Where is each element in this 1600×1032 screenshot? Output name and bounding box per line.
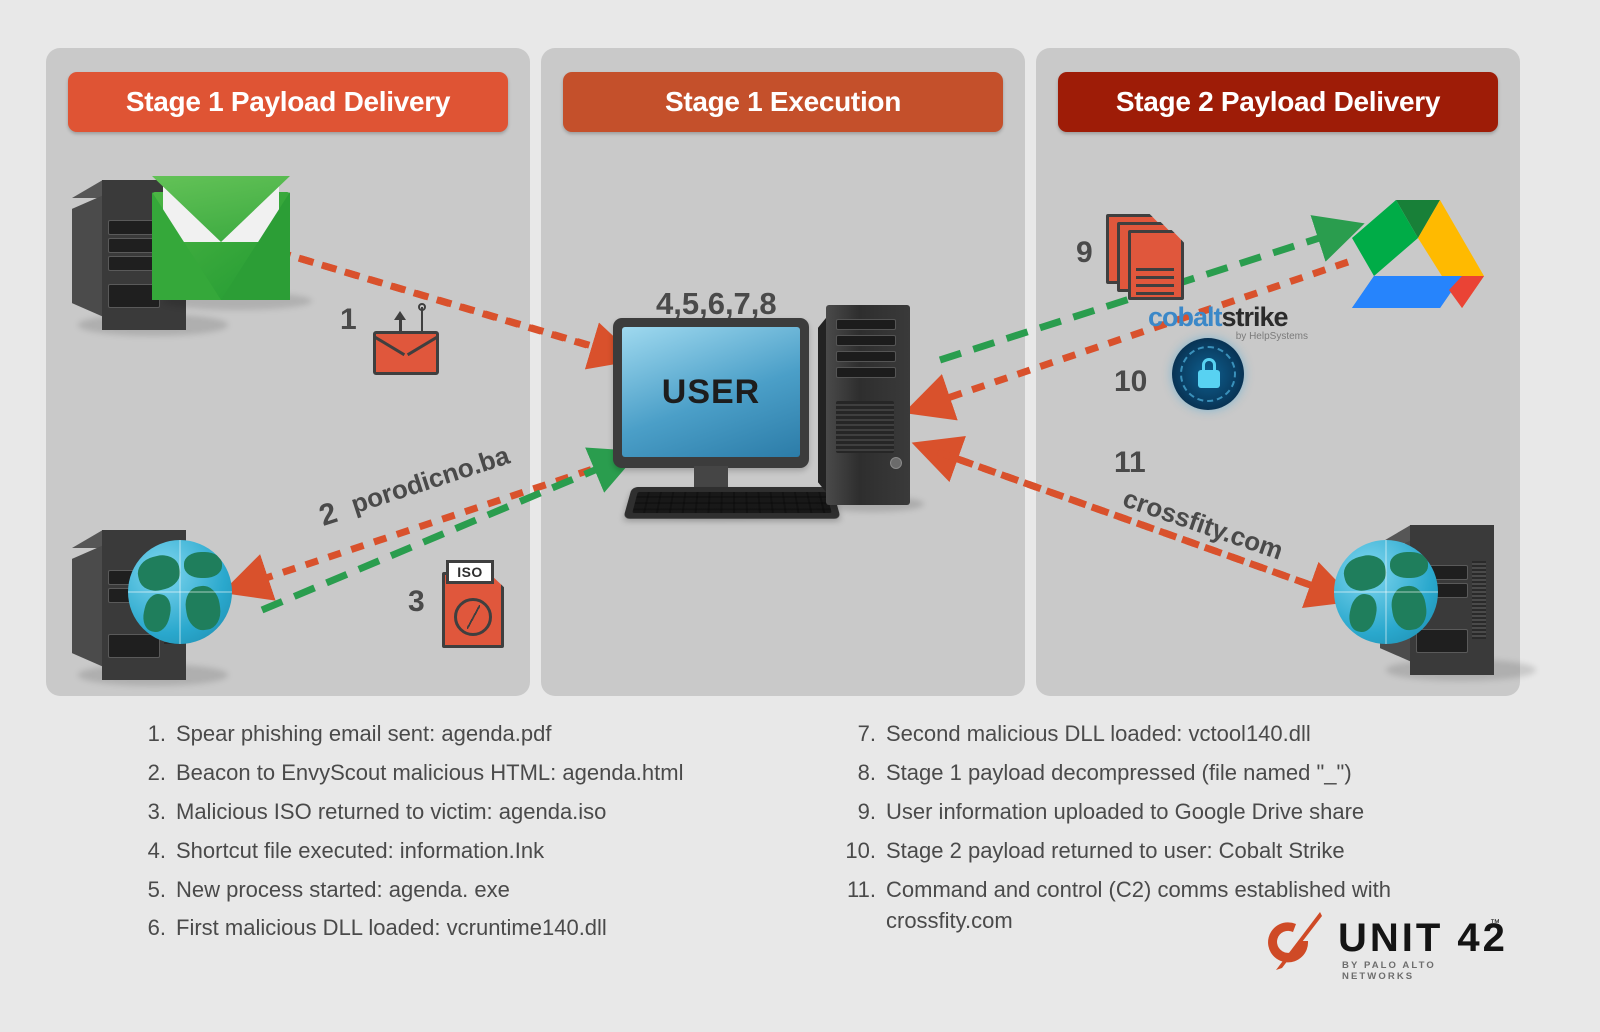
legend-item-number: 8.	[838, 757, 886, 789]
user-monitor-icon: USER	[613, 318, 809, 468]
legend-item-number: 1.	[128, 718, 176, 750]
globe-icon	[1334, 540, 1438, 644]
legend-item-number: 11.	[838, 874, 886, 938]
center-steps-label: 4,5,6,7,8	[656, 286, 777, 322]
legend-item-number: 3.	[128, 796, 176, 828]
google-drive-icon	[1352, 190, 1484, 308]
banner-stage-1-payload-delivery: Stage 1 Payload Delivery	[68, 72, 508, 132]
legend-item-number: 7.	[838, 718, 886, 750]
banner-stage-2-payload-delivery: Stage 2 Payload Delivery	[1058, 72, 1498, 132]
legend-item-number: 5.	[128, 874, 176, 906]
legend-item: 8.Stage 1 payload decompressed (file nam…	[838, 757, 1478, 789]
banner-title: Stage 1 Execution	[665, 86, 901, 118]
legend-item-text: Shortcut file executed: information.Ink	[176, 835, 828, 867]
document-stack-icon	[1106, 214, 1186, 300]
legend-item-number: 4.	[128, 835, 176, 867]
globe-icon	[128, 540, 232, 644]
user-screen-label: USER	[662, 373, 760, 412]
legend-item: 6.First malicious DLL loaded: vcruntime1…	[128, 912, 828, 944]
legend-item-text: Spear phishing email sent: agenda.pdf	[176, 718, 828, 750]
cobalt-strike-logo: cobaltstrike by HelpSystems	[1148, 302, 1308, 342]
unit-42-trademark: ™	[1490, 918, 1500, 929]
step-1-number: 1	[340, 303, 357, 337]
legend-item-text: User information uploaded to Google Driv…	[886, 796, 1478, 828]
unit-42-mark-icon	[1262, 910, 1332, 972]
legend-item: 3.Malicious ISO returned to victim: agen…	[128, 796, 828, 828]
step-11-number: 11	[1114, 446, 1146, 480]
email-envelope-icon	[152, 192, 290, 300]
legend-item-text: First malicious DLL loaded: vcruntime140…	[176, 912, 828, 944]
legend-item-number: 6.	[128, 912, 176, 944]
legend-item: 4.Shortcut file executed: information.In…	[128, 835, 828, 867]
unit-42-logo: UNIT 42 ™ BY PALO ALTO NETWORKS	[1262, 910, 1512, 976]
unit-42-wordmark: UNIT 42	[1338, 916, 1508, 961]
legend-column-left: 1.Spear phishing email sent: agenda.pdf2…	[128, 718, 828, 951]
legend-item-number: 2.	[128, 757, 176, 789]
legend-item: 2.Beacon to EnvyScout malicious HTML: ag…	[128, 757, 828, 789]
step-10-number: 10	[1114, 365, 1147, 399]
legend-item: 9.User information uploaded to Google Dr…	[838, 796, 1478, 828]
legend-item-text: Malicious ISO returned to victim: agenda…	[176, 796, 828, 828]
legend-item-text: Second malicious DLL loaded: vctool140.d…	[886, 718, 1478, 750]
legend-item-text: New process started: agenda. exe	[176, 874, 828, 906]
legend-item: 7.Second malicious DLL loaded: vctool140…	[838, 718, 1478, 750]
step-9-number: 9	[1076, 236, 1093, 270]
banner-stage-1-execution: Stage 1 Execution	[563, 72, 1003, 132]
legend-item: 5.New process started: agenda. exe	[128, 874, 828, 906]
iso-tag-label: ISO	[446, 560, 494, 584]
legend-item-number: 10.	[838, 835, 886, 867]
legend-item-number: 9.	[838, 796, 886, 828]
lock-orb-icon	[1172, 338, 1244, 410]
legend-item-text: Beacon to EnvyScout malicious HTML: agen…	[176, 757, 828, 789]
banner-title: Stage 2 Payload Delivery	[1116, 86, 1440, 118]
step-3-number: 3	[408, 585, 425, 619]
keyboard-icon	[623, 487, 841, 519]
legend-item: 1.Spear phishing email sent: agenda.pdf	[128, 718, 828, 750]
phishing-mail-icon	[373, 303, 439, 375]
strike-word: strike	[1222, 302, 1288, 332]
iso-file-icon: ISO	[442, 572, 504, 648]
desktop-tower-icon	[818, 305, 910, 505]
legend-item: 10.Stage 2 payload returned to user: Cob…	[838, 835, 1478, 867]
legend-item-text: Stage 1 payload decompressed (file named…	[886, 757, 1478, 789]
cobalt-word: cobalt	[1148, 302, 1222, 332]
unit-42-tagline: BY PALO ALTO NETWORKS	[1342, 960, 1512, 982]
banner-title: Stage 1 Payload Delivery	[126, 86, 450, 118]
legend-item-text: Stage 2 payload returned to user: Cobalt…	[886, 835, 1478, 867]
